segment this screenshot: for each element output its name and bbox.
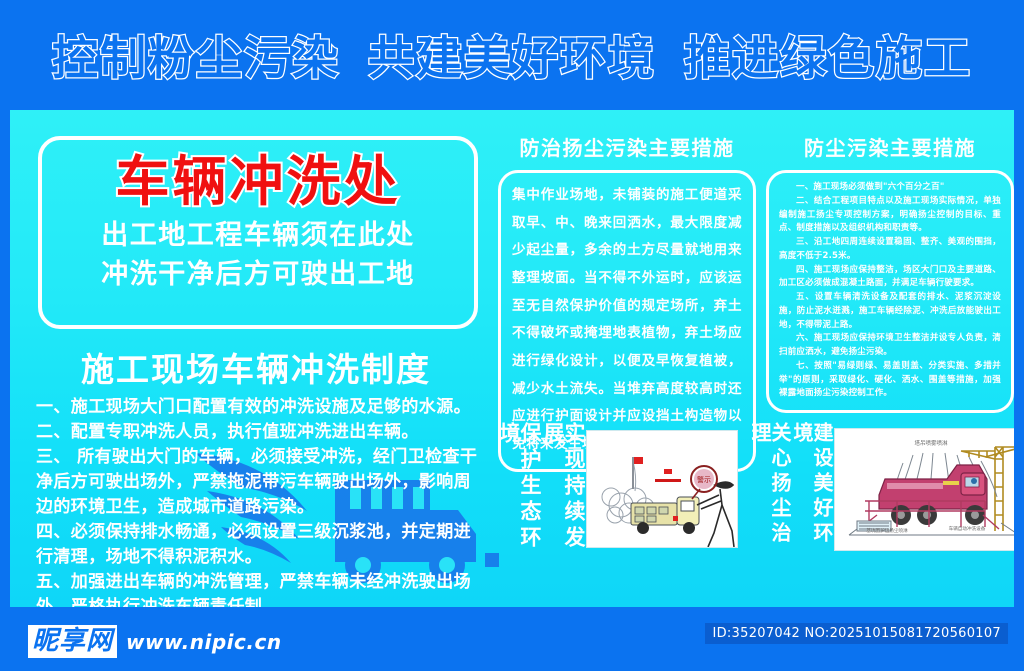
wash-station-title: 车辆冲洗处 <box>116 148 401 216</box>
right-measure-item: 三、沿工地四周连续设置稳固、整齐、美观的围挡，高度不低于2.5米。 <box>779 236 1001 264</box>
wash-notice-box: 车辆冲洗处 出工地工程车辆须在此处 冲洗干净后方可驶出工地 <box>38 136 478 329</box>
caption-dust-control: 关心扬尘治理 <box>750 422 790 560</box>
label-crane-spray: 塔吊喷雾喷淋 <box>914 439 948 447</box>
middle-heading: 防治扬尘污染主要措施 <box>498 132 756 161</box>
brand-url: www.nipic.cn <box>126 630 282 654</box>
rule-item: 一、施工现场大门口配置有效的冲洗设施及足够的水源。 <box>36 395 482 420</box>
image-id-badge: ID:35207042 NO:20251015081720560107 <box>705 623 1008 644</box>
middle-measures-text: 集中作业场地，未铺装的施工便道采取早、中、晚来回洒水，最大限度减少起尘量，多余的… <box>512 182 742 459</box>
picture-block-right: 关心扬尘治理 建设美好环境 <box>750 422 1014 562</box>
title-part-3: 推进绿色施工 <box>684 31 972 85</box>
caption-protect-ecology: 保护生态环境 <box>498 422 540 560</box>
notice-line-2: 冲洗干净后方可驶出工地 <box>101 255 415 294</box>
right-measure-item: 一、施工现场必须做到"六个百分之百" <box>779 181 1001 195</box>
notice-line-1: 出工地工程车辆须在此处 <box>101 216 415 255</box>
right-measure-item: 七、按照"易绿则绿、易盖则盖、分类实施、多措并举"的原则，采取绿化、硬化、洒水、… <box>779 360 1001 401</box>
right-measures-box: 一、施工现场必须做到"六个百分之百" 二、结合工程项目特点以及施工现场实际情况，… <box>766 170 1014 413</box>
caption-build-good-environment: 建设美好环境 <box>792 422 832 560</box>
site-brand: 昵享网 www.nipic.cn <box>28 625 282 658</box>
rule-item: 四、必须保持排水畅通，必须设置三级沉浆池，并定期进行清理，场地不得积泥积水。 <box>36 520 482 570</box>
rule-item: 三、 所有驶出大门的车辆，必须接受冲洗，经门卫检查干净后方可驶出场外，严禁拖泥带… <box>36 445 482 520</box>
label-auto-wash: 车辆自动冲洗设备 <box>949 525 986 532</box>
right-measure-item: 五、设置车辆清洗设备及配套的排水、泥浆沉淀设施，防止泥水迸溅，施工车辆经除泥、冲… <box>779 291 1001 332</box>
left-column: 车辆冲洗处 出工地工程车辆须在此处 冲洗干净后方可驶出工地 施工现场车辆冲洗制度… <box>22 122 490 592</box>
illustration-truck-wash-station: 塔吊喷雾喷淋 基坑围护边扬尘喷淋 车辆自动冲洗设备 <box>834 428 1014 551</box>
title-part-2: 共建美好环境 <box>368 31 656 85</box>
middle-column: 防治扬尘污染主要措施 集中作业场地，未铺装的施工便道采取早、中、晚来回洒水，最大… <box>498 132 756 472</box>
right-measure-item: 四、施工现场应保持整洁，场区大门口及主要道路、加工区必须做成混凝土路面，并满足车… <box>779 264 1001 292</box>
page-title: 控制粉尘污染共建美好环境推进绿色施工 <box>38 22 986 88</box>
header-banner: 控制粉尘污染共建美好环境推进绿色施工 <box>0 0 1024 110</box>
poster-root: 控制粉尘污染共建美好环境推进绿色施工 <box>0 0 1024 671</box>
right-measure-item: 二、结合工程项目特点以及施工现场实际情况，单独编制施工扬尘专项控制方案，明确扬尘… <box>779 195 1001 236</box>
illustration-dusty-truck: 警示 <box>586 430 738 548</box>
warning-sign-label: 警示 <box>697 475 711 484</box>
rules-heading: 施工现场车辆冲洗制度 <box>22 343 490 391</box>
right-column: 防尘污染主要措施 一、施工现场必须做到"六个百分之百" 二、结合工程项目特点以及… <box>766 132 1014 413</box>
brand-logo: 昵享网 <box>28 625 117 658</box>
rule-item: 五、加强进出车辆的冲洗管理，严禁车辆未经冲洗驶出场外，严格执行冲洗车辆责任制。 <box>36 570 482 607</box>
caption-sustainable-development: 实现持续发展 <box>542 422 584 560</box>
title-part-1: 控制粉尘污染 <box>52 31 340 85</box>
label-pit-spray: 基坑围护边扬尘喷淋 <box>866 527 908 534</box>
rules-list: 一、施工现场大门口配置有效的冲洗设施及足够的水源。 二、配置专职冲洗人员，执行值… <box>36 395 482 607</box>
picture-block-left: 保护生态环境 实现持续发展 <box>498 422 746 562</box>
rule-item: 二、配置专职冲洗人员，执行值班冲洗进出车辆。 <box>36 420 482 445</box>
footer-bar: 昵享网 www.nipic.cn ID:35207042 NO:20251015… <box>0 607 1024 671</box>
right-measure-item: 六、施工现场应保持环境卫生整洁并设专人负责，清扫前应洒水，避免扬尘污染。 <box>779 332 1001 360</box>
content-area: 车辆冲洗处 出工地工程车辆须在此处 冲洗干净后方可驶出工地 施工现场车辆冲洗制度… <box>10 110 1014 607</box>
picture-strip: 保护生态环境 实现持续发展 <box>498 422 1014 562</box>
right-heading: 防尘污染主要措施 <box>766 132 1014 161</box>
